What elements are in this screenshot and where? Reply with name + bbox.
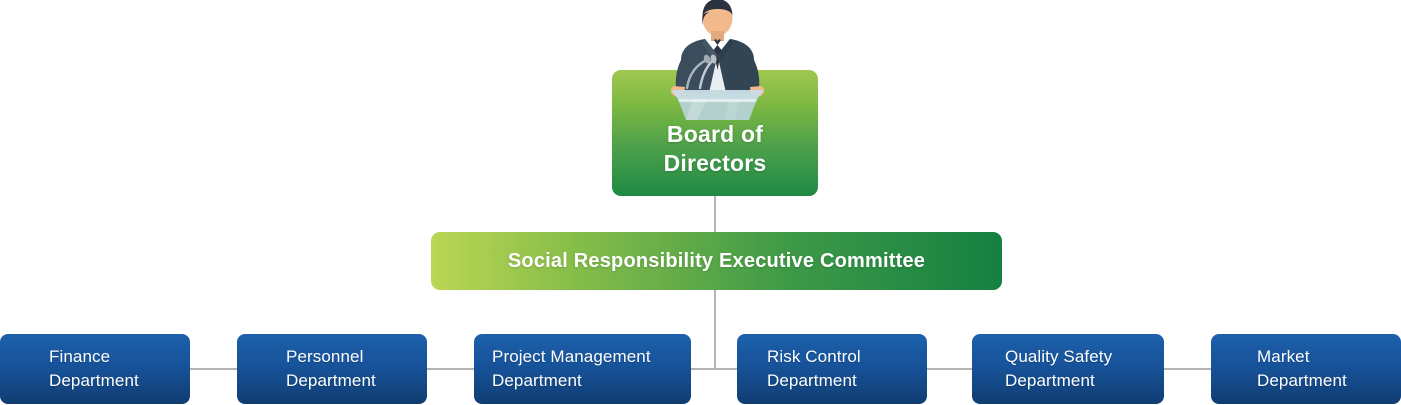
node-quality-safety-department[interactable]: Quality Safety Department [972, 334, 1164, 404]
connector-department-bus-segment-3 [691, 368, 737, 370]
department-label-line-2: Department [492, 369, 651, 393]
department-label-line-1: Personnel [286, 345, 376, 369]
department-label: Finance Department [0, 345, 151, 393]
department-label: Quality Safety Department [972, 345, 1124, 393]
organization-chart: Board of Directors [0, 0, 1401, 405]
connector-committee-to-departments [714, 290, 716, 369]
department-label-line-1: Project Management [492, 345, 651, 369]
department-label: Market Department [1211, 345, 1359, 393]
board-of-directors-label: Board of Directors [612, 120, 818, 178]
department-label-line-1: Finance [49, 345, 139, 369]
node-market-department[interactable]: Market Department [1211, 334, 1401, 404]
connector-board-to-committee [714, 196, 716, 232]
node-risk-control-department[interactable]: Risk Control Department [737, 334, 927, 404]
department-label-line-2: Department [1005, 369, 1112, 393]
department-label: Personnel Department [237, 345, 388, 393]
department-label-line-1: Market [1257, 345, 1347, 369]
department-label-line-2: Department [767, 369, 861, 393]
node-personnel-department[interactable]: Personnel Department [237, 334, 427, 404]
department-label-line-1: Risk Control [767, 345, 861, 369]
board-label-line-1: Board of [612, 120, 818, 149]
node-project-management-department[interactable]: Project Management Department [474, 334, 691, 404]
board-label-line-2: Directors [612, 149, 818, 178]
department-label: Project Management Department [474, 345, 663, 393]
connector-department-bus-segment-4 [927, 368, 972, 370]
department-label: Risk Control Department [737, 345, 873, 393]
node-finance-department[interactable]: Finance Department [0, 334, 190, 404]
department-label-line-1: Quality Safety [1005, 345, 1112, 369]
connector-department-bus-segment-2 [427, 368, 474, 370]
department-label-line-2: Department [286, 369, 376, 393]
connector-department-bus-segment-5 [1164, 368, 1211, 370]
department-label-line-2: Department [1257, 369, 1347, 393]
committee-label: Social Responsibility Executive Committe… [508, 250, 925, 273]
department-label-line-2: Department [49, 369, 139, 393]
node-board-of-directors[interactable]: Board of Directors [612, 70, 818, 196]
connector-department-bus-segment-1 [190, 368, 237, 370]
node-social-responsibility-executive-committee[interactable]: Social Responsibility Executive Committe… [431, 232, 1002, 290]
